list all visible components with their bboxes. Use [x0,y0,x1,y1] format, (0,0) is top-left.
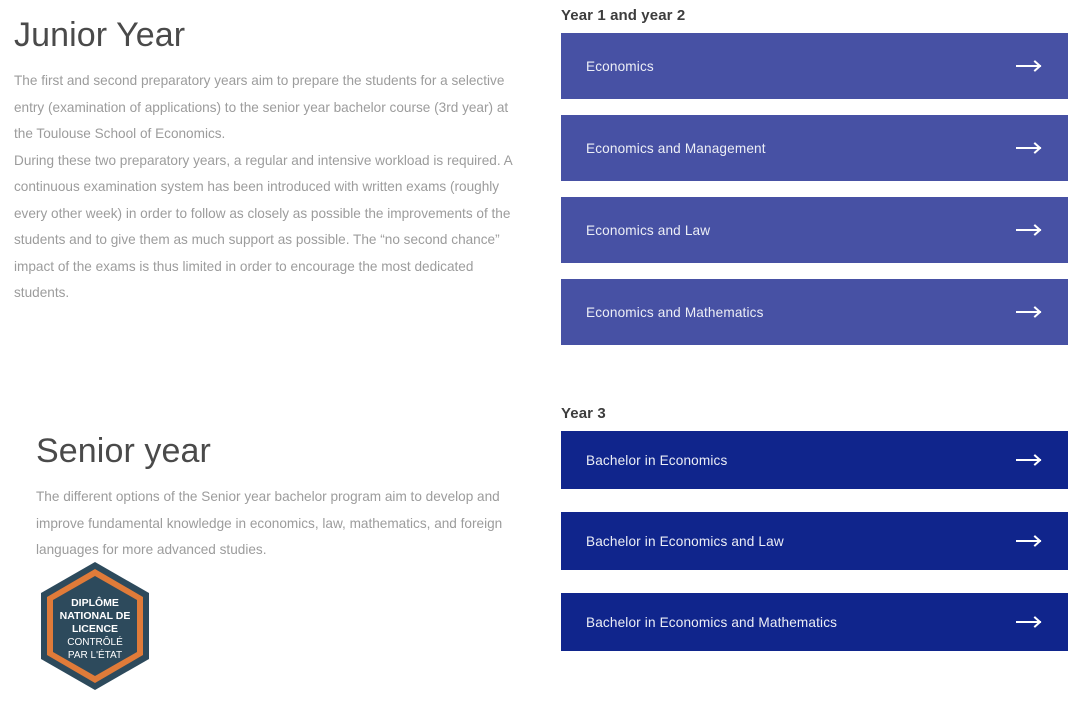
program-link-label: Bachelor in Economics [586,453,727,468]
arrow-right-icon [1016,305,1044,319]
badge-line-2: NATIONAL DE [60,610,131,622]
badge-line-4: CONTRÔLÉ [67,635,123,648]
program-link-economics-and-mathematics[interactable]: Economics and Mathematics [561,279,1068,345]
program-overview-page: Junior Year The first and second prepara… [0,0,1080,704]
arrow-right-icon [1016,615,1044,629]
program-link-bachelor-in-economics-and-mathematics[interactable]: Bachelor in Economics and Mathematics [561,593,1068,651]
year-3-group-title: Year 3 [561,405,1068,422]
program-link-label: Economics and Law [586,223,710,238]
arrow-right-icon [1016,453,1044,467]
arrow-right-icon [1016,141,1044,155]
program-link-label: Bachelor in Economics and Mathematics [586,615,837,630]
junior-year-paragraph-1: The first and second preparatory years a… [14,68,526,148]
arrow-right-icon [1016,223,1044,237]
badge-line-3: LICENCE [72,623,118,635]
year-3-group: Year 3 Bachelor in Economics Bachelor in… [561,405,1068,651]
badge-line-5: PAR L'ÉTAT [68,648,122,661]
senior-year-body: The different options of the Senior year… [36,484,548,564]
junior-year-body: The first and second preparatory years a… [14,68,526,307]
senior-year-paragraph-1: The different options of the Senior year… [36,484,548,564]
program-link-bachelor-in-economics[interactable]: Bachelor in Economics [561,431,1068,489]
year-1-and-2-group: Year 1 and year 2 Economics Economics an… [561,7,1068,345]
program-link-label: Economics and Mathematics [586,305,764,320]
program-link-economics-and-law[interactable]: Economics and Law [561,197,1068,263]
senior-year-section: Senior year The different options of the… [36,432,548,564]
badge-line-1: DIPLÔME [71,596,119,609]
year-1-and-2-group-title: Year 1 and year 2 [561,7,1068,24]
program-link-bachelor-in-economics-and-law[interactable]: Bachelor in Economics and Law [561,512,1068,570]
arrow-right-icon [1016,534,1044,548]
diploma-badge: DIPLÔME NATIONAL DE LICENCE CONTRÔLÉ PAR… [36,560,154,692]
junior-year-section: Junior Year The first and second prepara… [14,16,526,307]
program-link-economics-and-management[interactable]: Economics and Management [561,115,1068,181]
senior-year-heading: Senior year [36,432,548,471]
diploma-hexagon-badge-icon: DIPLÔME NATIONAL DE LICENCE CONTRÔLÉ PAR… [36,560,154,692]
program-link-economics[interactable]: Economics [561,33,1068,99]
program-link-label: Economics and Management [586,141,766,156]
junior-year-paragraph-2: During these two preparatory years, a re… [14,148,526,307]
junior-year-heading: Junior Year [14,16,526,55]
left-content-column: Junior Year The first and second prepara… [0,0,548,704]
arrow-right-icon [1016,59,1044,73]
program-link-label: Economics [586,59,654,74]
program-link-label: Bachelor in Economics and Law [586,534,784,549]
